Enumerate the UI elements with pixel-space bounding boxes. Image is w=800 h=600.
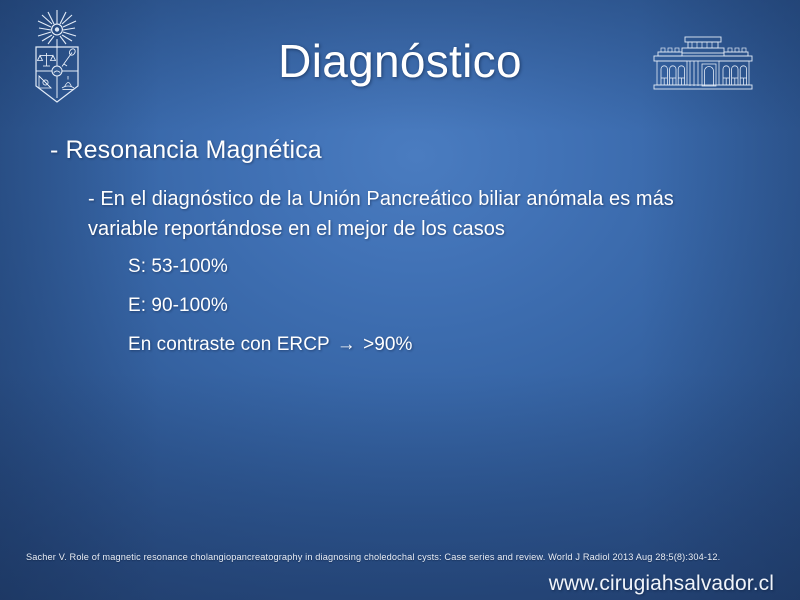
citation-reference: Sacher V. Role of magnetic resonance cho… (26, 552, 776, 562)
right-arrow-icon: → (335, 334, 358, 355)
contraste-ercp-value: >90% (363, 334, 412, 355)
sub-item-contraste-ercp: En contraste con ERCP → >90% (0, 332, 800, 358)
bullet-level2-line1: - En el diagnóstico de la Unión Pancreát… (88, 188, 630, 210)
bullet-level1-resonancia-magnetica: - Resonancia Magnética (0, 135, 800, 166)
sub-item-sensibilidad: S: 53-100% (0, 254, 800, 280)
hospital-building-facade-icon (644, 33, 762, 95)
slide-body: - Resonancia Magnética - En el diagnósti… (0, 135, 800, 370)
bullet-level2-union-pancreatico: - En el diagnóstico de la Unión Pancreát… (0, 184, 800, 244)
contraste-ercp-label: En contraste con ERCP (128, 334, 329, 355)
slide-canvas: Diagnóstico - Resonancia Magnética - En … (0, 0, 800, 600)
site-url: www.cirugiahsalvador.cl (549, 572, 774, 596)
page-title: Diagnóstico (278, 34, 522, 88)
universidad-de-chile-coat-of-arms-icon (26, 8, 88, 108)
sub-item-especificidad: E: 90-100% (0, 293, 800, 319)
